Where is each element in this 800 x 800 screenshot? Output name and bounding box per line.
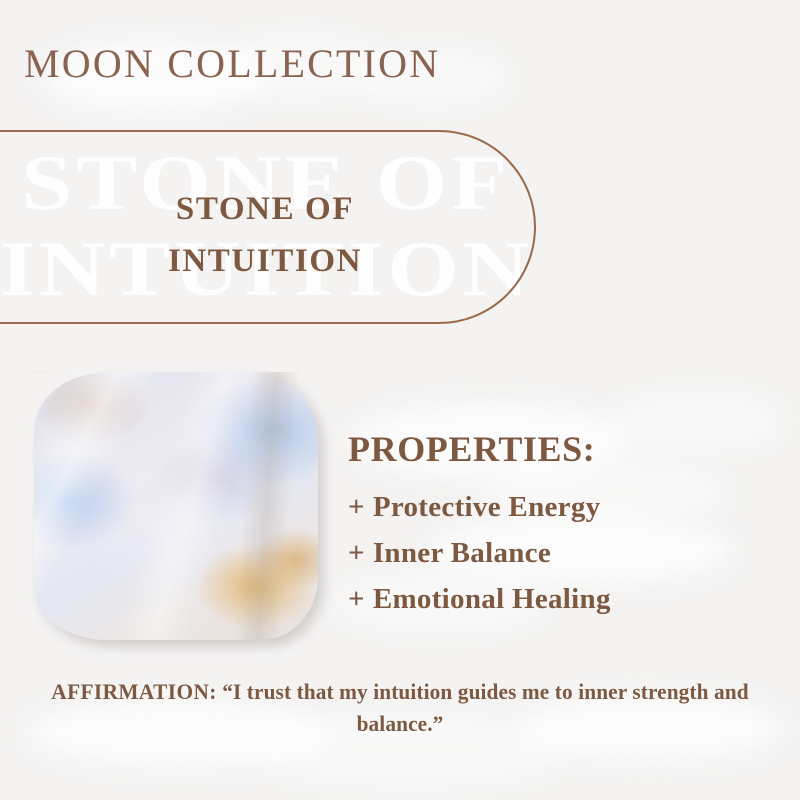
property-label: Emotional Healing xyxy=(373,583,611,615)
properties-heading: PROPERTIES: xyxy=(348,428,768,470)
moonstone-image xyxy=(34,372,318,640)
affirmation-text: AFFIRMATION: “I trust that my intuition … xyxy=(45,676,755,740)
property-item: +Emotional Healing xyxy=(348,576,768,622)
page-title: MOON COLLECTION xyxy=(24,44,440,84)
affirmation-quote: “I trust that my intuition guides me to … xyxy=(222,679,749,736)
moonstone-grain-overlay xyxy=(34,372,318,640)
stone-name-line-2: INTUITION xyxy=(0,235,530,287)
stone-name-badge: STONE OF INTUITION xyxy=(0,183,530,287)
stone-name-line-1: STONE OF xyxy=(176,191,354,227)
plus-icon: + xyxy=(348,491,365,523)
crystal-info-card: MOON COLLECTION STONE OF INTUITION STONE… xyxy=(0,0,800,800)
property-item: +Inner Balance xyxy=(348,530,768,576)
plus-icon: + xyxy=(348,537,365,569)
properties-section: PROPERTIES: +Protective Energy +Inner Ba… xyxy=(348,428,768,622)
plus-icon: + xyxy=(348,583,365,615)
property-label: Protective Energy xyxy=(373,491,601,523)
property-item: +Protective Energy xyxy=(348,484,768,530)
property-label: Inner Balance xyxy=(373,537,551,569)
affirmation-label: AFFIRMATION: xyxy=(51,679,216,704)
